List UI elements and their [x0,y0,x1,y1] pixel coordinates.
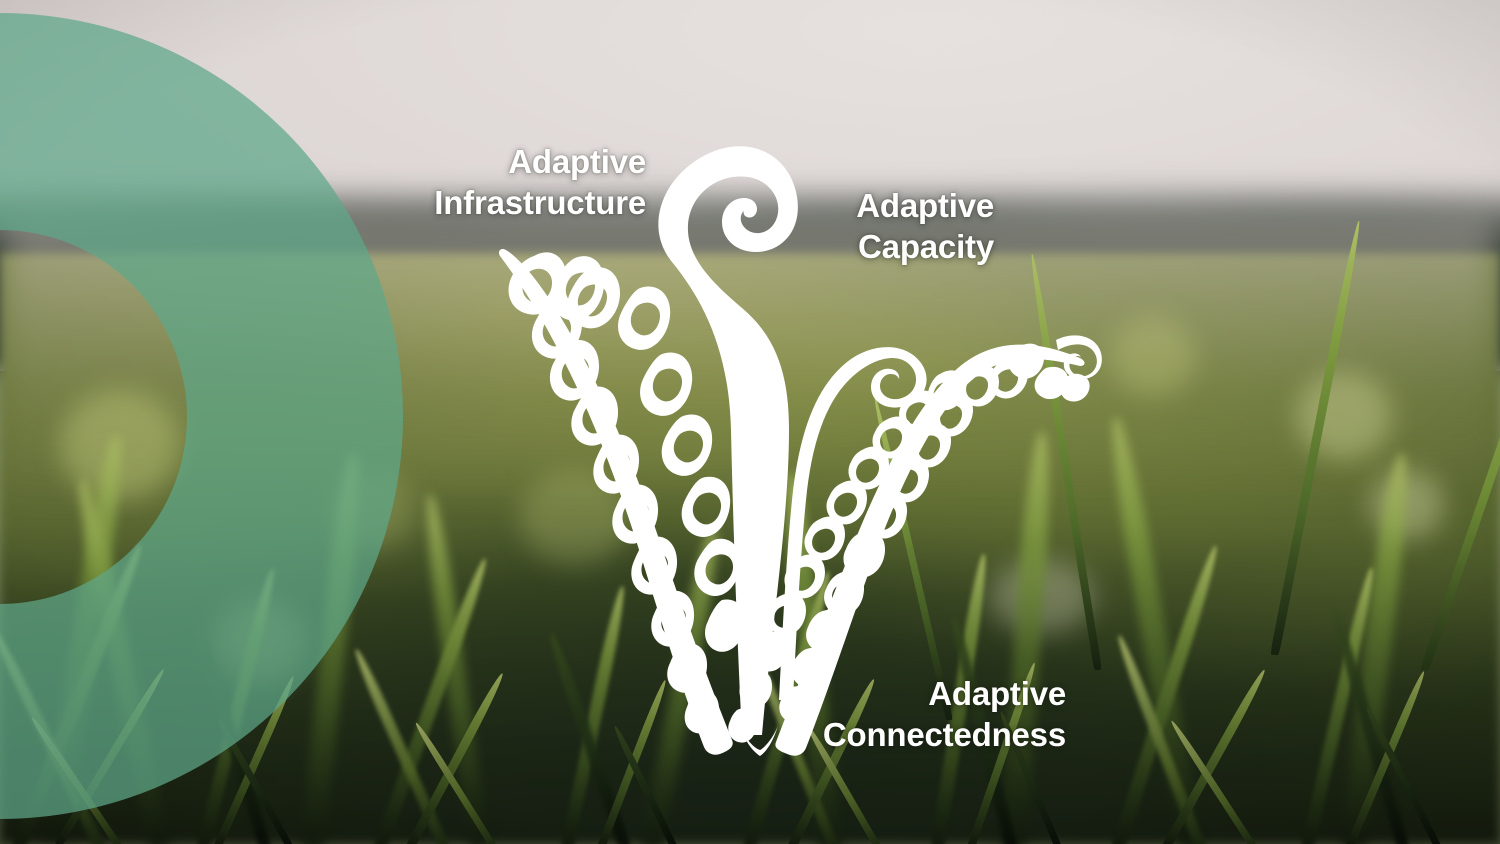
label-adaptive-infrastructure: Adaptive Infrastructure [246,142,646,224]
slide-canvas: Adaptive Infrastructure Adaptive Capacit… [0,0,1500,844]
label-adaptive-connectedness: Adaptive Connectedness [700,674,1066,756]
label-adaptive-capacity: Adaptive Capacity [760,186,994,268]
left-frond-pinnae-outer [509,252,720,733]
